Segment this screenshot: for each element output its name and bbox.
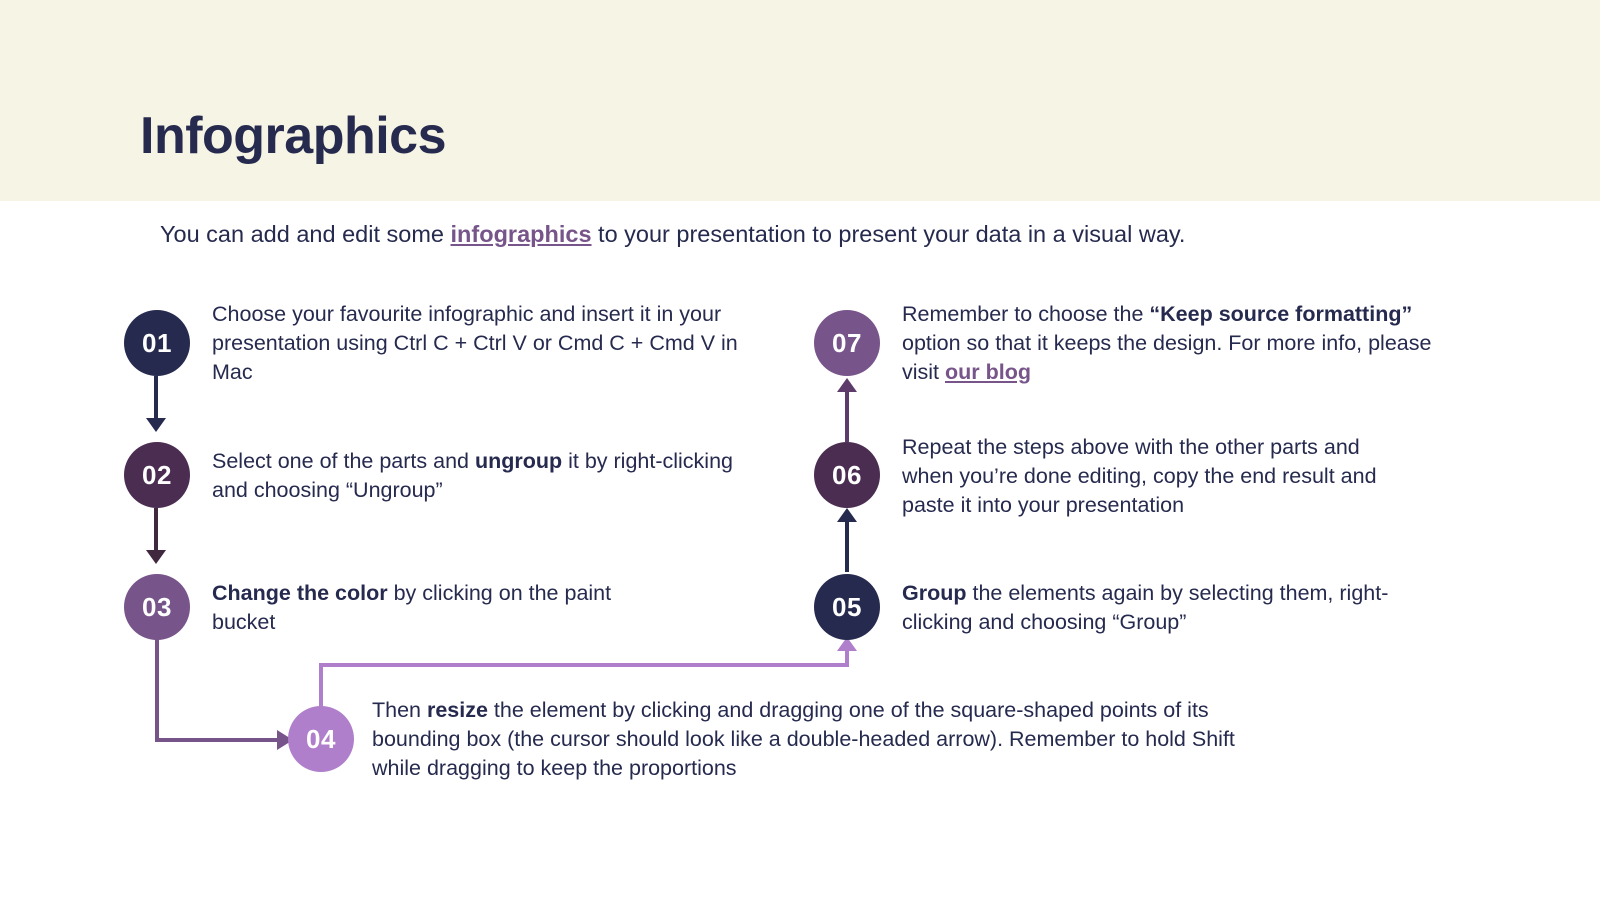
intro-suffix: to your presentation to present your dat… (592, 221, 1186, 247)
connector-line (845, 520, 849, 572)
arrow-head-down-icon (146, 418, 166, 432)
step-text-07-bold: “Keep source formatting” (1149, 302, 1412, 326)
step-text-04-part-a: Then (372, 698, 427, 722)
step-text-07-part-a: Remember to choose the (902, 302, 1149, 326)
step-text-05: Group the elements again by selecting th… (902, 579, 1442, 637)
intro-prefix: You can add and edit some (160, 221, 451, 247)
infographics-link[interactable]: infographics (451, 221, 592, 247)
step-number-badge-06[interactable]: 06 (814, 442, 880, 508)
step-text-02-bold: ungroup (475, 449, 562, 473)
step-text-04-part-c: the element by clicking and dragging one… (372, 698, 1241, 780)
arrow-head-up-icon (837, 508, 857, 522)
step-text-01: Choose your favourite infographic and in… (212, 300, 772, 386)
step-text-04: Then resize the element by clicking and … (372, 696, 1284, 782)
step-text-02: Select one of the parts and ungroup it b… (212, 447, 772, 505)
step-number-badge-04[interactable]: 04 (288, 706, 354, 772)
step-text-04-bold: resize (427, 698, 488, 722)
page-title: Infographics (140, 108, 446, 165)
connector-line (845, 390, 849, 442)
arrow-head-down-icon (146, 550, 166, 564)
connector-line-vertical (155, 638, 159, 742)
step-number-badge-07[interactable]: 07 (814, 310, 880, 376)
step-text-06: Repeat the steps above with the other pa… (902, 433, 1412, 519)
connector-line (154, 508, 158, 556)
step-text-02-part-a: Select one of the parts and (212, 449, 475, 473)
our-blog-link[interactable]: our blog (945, 360, 1031, 384)
step-text-05-bold: Group (902, 581, 967, 605)
step-text-07: Remember to choose the “Keep source form… (902, 300, 1438, 386)
connector-line (154, 376, 158, 424)
step-text-03: Change the color by clicking on the pain… (212, 579, 632, 637)
step-number-badge-01[interactable]: 01 (124, 310, 190, 376)
step-text-03-bold: Change the color (212, 581, 388, 605)
arrow-head-up-icon (837, 378, 857, 392)
step-number-badge-02[interactable]: 02 (124, 442, 190, 508)
step-number-badge-03[interactable]: 03 (124, 574, 190, 640)
intro-paragraph: You can add and edit some infographics t… (160, 219, 1185, 251)
connector-line-horizontal (319, 663, 849, 667)
connector-line-vertical (319, 665, 323, 710)
step-text-05-part-b: the elements again by selecting them, ri… (902, 581, 1388, 634)
connector-line-vertical-end (845, 650, 849, 667)
connector-line-horizontal (155, 738, 283, 742)
step-number-badge-05[interactable]: 05 (814, 574, 880, 640)
header-band (0, 0, 1600, 201)
